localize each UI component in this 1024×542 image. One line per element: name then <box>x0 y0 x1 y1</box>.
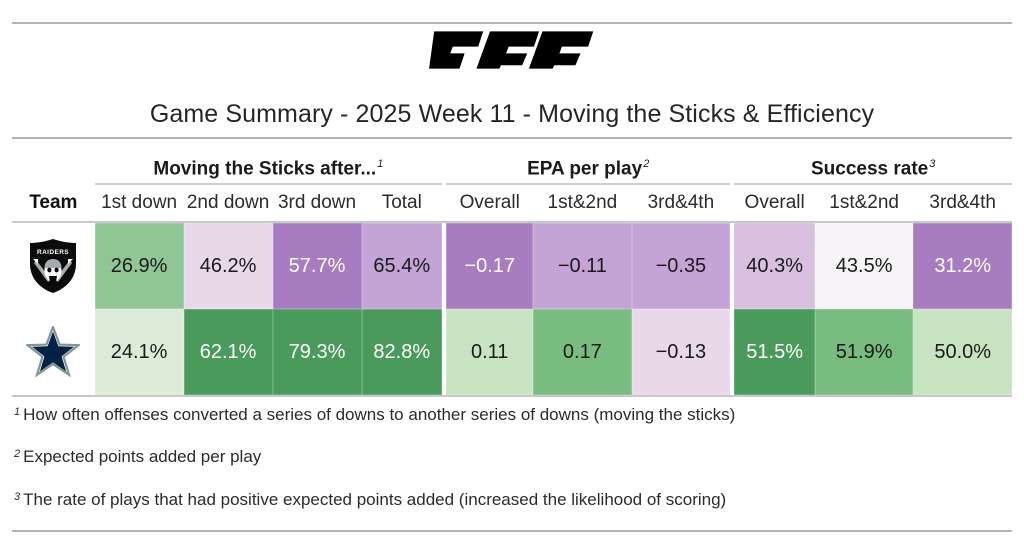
footnote-1: 1 How often offenses converted a series … <box>14 405 1014 425</box>
brand-logo-container <box>0 28 1024 77</box>
cell-value: 40.3% <box>746 255 803 277</box>
cell-value: 24.1% <box>111 341 168 363</box>
table-bottom-rule <box>12 395 1012 397</box>
footnote-marker: 2 <box>14 447 20 460</box>
column-header-row: Team 1st down 2nd down 3rd down Total Ov… <box>12 184 1012 221</box>
pff-logo <box>427 28 597 72</box>
game-summary-graphic: Game Summary - 2025 Week 11 - Moving the… <box>0 0 1024 542</box>
cell-value: 31.2% <box>934 255 991 277</box>
group-header-spacer <box>12 144 95 184</box>
cell-value: −0.17 <box>464 255 515 277</box>
cell-raiders-epa-3rd4th: −0.35 <box>632 223 731 309</box>
cell-cowboys-sr-3rd4th: 50.0% <box>913 309 1012 395</box>
cell-raiders-2nd-down: 46.2% <box>184 223 273 309</box>
cell-cowboys-sr-overall: 51.5% <box>734 309 815 395</box>
cell-value: 0.17 <box>563 341 602 363</box>
cell-value: 26.9% <box>111 255 168 277</box>
column-header-1st-down: 1st down <box>95 184 184 221</box>
cell-raiders-1st-down: 26.9% <box>95 223 184 309</box>
cell-raiders-sr-1st2nd: 43.5% <box>815 223 914 309</box>
cell-raiders-3rd-down: 57.7% <box>273 223 362 309</box>
cell-cowboys-epa-3rd4th: −0.13 <box>632 309 731 395</box>
column-header-epa-1st2nd: 1st&2nd <box>533 184 632 221</box>
footnote-text: How often offenses converted a series of… <box>23 405 735 425</box>
footnote-text: The rate of plays that had positive expe… <box>23 490 726 510</box>
cell-value: 50.0% <box>934 341 991 363</box>
cell-cowboys-3rd-down: 79.3% <box>273 309 362 395</box>
group-label: Moving the Sticks after... <box>153 158 376 179</box>
column-header-epa-overall: Overall <box>446 184 533 221</box>
stats-table: Moving the Sticks after...1 EPA per play… <box>12 144 1012 397</box>
cell-raiders-epa-overall: −0.17 <box>446 223 533 309</box>
cell-value: 46.2% <box>200 255 257 277</box>
cell-raiders-epa-1st2nd: −0.11 <box>533 223 632 309</box>
cell-cowboys-sr-1st2nd: 51.9% <box>815 309 914 395</box>
cell-value: 57.7% <box>289 255 346 277</box>
footnote-3: 3 The rate of plays that had positive ex… <box>14 490 1014 510</box>
cell-value: 65.4% <box>373 255 430 277</box>
svg-text:RAIDERS: RAIDERS <box>37 249 69 256</box>
column-header-sr-3rd4th: 3rd&4th <box>913 184 1012 221</box>
cell-value: −0.35 <box>656 255 707 277</box>
cowboys-star-icon <box>26 326 80 378</box>
footnotes: 1 How often offenses converted a series … <box>14 405 1014 532</box>
column-header-sr-1st2nd: 1st&2nd <box>815 184 914 221</box>
cell-value: 79.3% <box>289 341 346 363</box>
cell-value: 62.1% <box>200 341 257 363</box>
group-header-epa-per-play: EPA per play2 <box>446 144 730 184</box>
group-header-moving-the-sticks: Moving the Sticks after...1 <box>95 144 442 184</box>
title-divider <box>12 137 1012 139</box>
cell-value: −0.13 <box>656 341 707 363</box>
footnote-2: 2 Expected points added per play <box>14 447 1014 467</box>
cell-value: 43.5% <box>836 255 893 277</box>
column-header-epa-3rd4th: 3rd&4th <box>632 184 731 221</box>
cell-raiders-sr-overall: 40.3% <box>734 223 815 309</box>
raiders-shield-icon: RAIDERS <box>27 238 79 294</box>
column-header-3rd-down: 3rd down <box>273 184 362 221</box>
team-logo-cell-cowboys <box>12 309 95 395</box>
group-label: Success rate <box>811 158 928 179</box>
footnote-ref-1: 1 <box>377 158 383 170</box>
cell-value: 51.5% <box>746 341 803 363</box>
group-header-success-rate: Success rate3 <box>734 144 1012 184</box>
bottom-divider <box>12 530 1012 532</box>
footnote-marker: 3 <box>14 490 20 503</box>
column-header-total: Total <box>362 184 443 221</box>
group-label: EPA per play <box>527 158 642 179</box>
table-row: 24.1% 62.1% 79.3% 82.8% 0.11 0.17 −0.13 … <box>12 309 1012 395</box>
cell-cowboys-2nd-down: 62.1% <box>184 309 273 395</box>
column-header-2nd-down: 2nd down <box>184 184 273 221</box>
cell-raiders-sr-3rd4th: 31.2% <box>913 223 1012 309</box>
footnote-marker: 1 <box>14 405 20 418</box>
team-logo-cell-raiders: RAIDERS <box>12 223 95 309</box>
cell-raiders-total: 65.4% <box>362 223 443 309</box>
cell-cowboys-epa-1st2nd: 0.17 <box>533 309 632 395</box>
cell-value: −0.11 <box>558 255 607 277</box>
top-divider <box>12 22 1012 24</box>
footnote-ref-3: 3 <box>929 158 935 170</box>
column-header-sr-overall: Overall <box>734 184 815 221</box>
cell-cowboys-epa-overall: 0.11 <box>446 309 533 395</box>
column-header-team: Team <box>12 184 95 221</box>
cell-value: 82.8% <box>373 341 430 363</box>
page-title: Game Summary - 2025 Week 11 - Moving the… <box>0 100 1024 129</box>
group-header-row: Moving the Sticks after...1 EPA per play… <box>12 144 1012 184</box>
cell-value: 51.9% <box>836 341 893 363</box>
table-row: RAIDERS 26.9% 46.2 <box>12 223 1012 309</box>
footnote-ref-2: 2 <box>643 158 649 170</box>
cell-cowboys-total: 82.8% <box>362 309 443 395</box>
cell-value: 0.11 <box>471 341 508 363</box>
footnote-text: Expected points added per play <box>23 447 261 467</box>
cell-cowboys-1st-down: 24.1% <box>95 309 184 395</box>
